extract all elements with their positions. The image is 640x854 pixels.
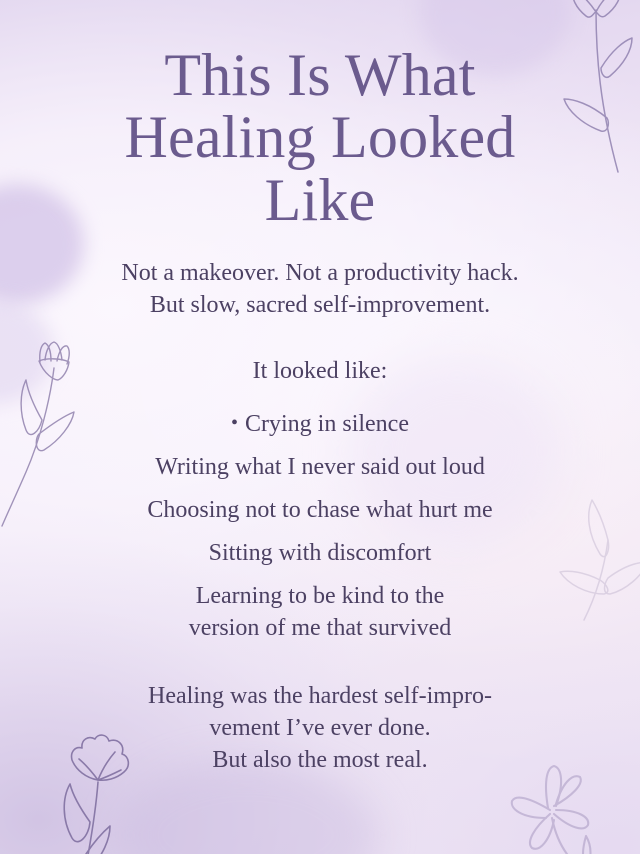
list-item-label-continued: version of me that survived xyxy=(52,612,588,644)
page-title: This Is What Healing Looked Like xyxy=(52,44,588,231)
poster-canvas: This Is What Healing Looked Like Not a m… xyxy=(0,0,640,854)
closing-line-3: But also the most real. xyxy=(52,744,588,776)
bullet-icon: • xyxy=(231,413,238,433)
closing-paragraph: Healing was the hardest self-impro- veme… xyxy=(52,680,588,776)
list-item-label: Writing what I never said out loud xyxy=(155,454,485,480)
prompt-text: It looked like: xyxy=(52,355,588,387)
title-line-3: Like xyxy=(58,169,582,231)
lede-line-1: Not a makeover. Not a productivity hack. xyxy=(52,257,588,289)
list-item-label: Crying in silence xyxy=(245,411,409,437)
lede-line-2: But slow, sacred self-improvement. xyxy=(52,289,588,321)
title-line-1: This Is What xyxy=(58,44,582,106)
list-item: Sitting with discomfort xyxy=(52,537,588,569)
closing-line-2: vement I’ve ever done. xyxy=(52,712,588,744)
lede-paragraph: Not a makeover. Not a productivity hack.… xyxy=(52,257,588,321)
list-item: •Crying in silence xyxy=(52,408,588,440)
list-item-label: Sitting with discomfort xyxy=(209,540,432,566)
list-item: Writing what I never said out loud xyxy=(52,451,588,483)
title-line-2: Healing Looked xyxy=(58,106,582,168)
list-item: Choosing not to chase what hurt me xyxy=(52,494,588,526)
list-item-label: Choosing not to chase what hurt me xyxy=(147,497,492,523)
list-item: Learning to be kind to the version of me… xyxy=(52,580,588,644)
poster-content: This Is What Healing Looked Like Not a m… xyxy=(0,0,640,854)
healing-list: •Crying in silence Writing what I never … xyxy=(52,408,588,645)
list-item-label: Learning to be kind to the xyxy=(52,580,588,612)
closing-line-1: Healing was the hardest self-impro- xyxy=(52,680,588,712)
